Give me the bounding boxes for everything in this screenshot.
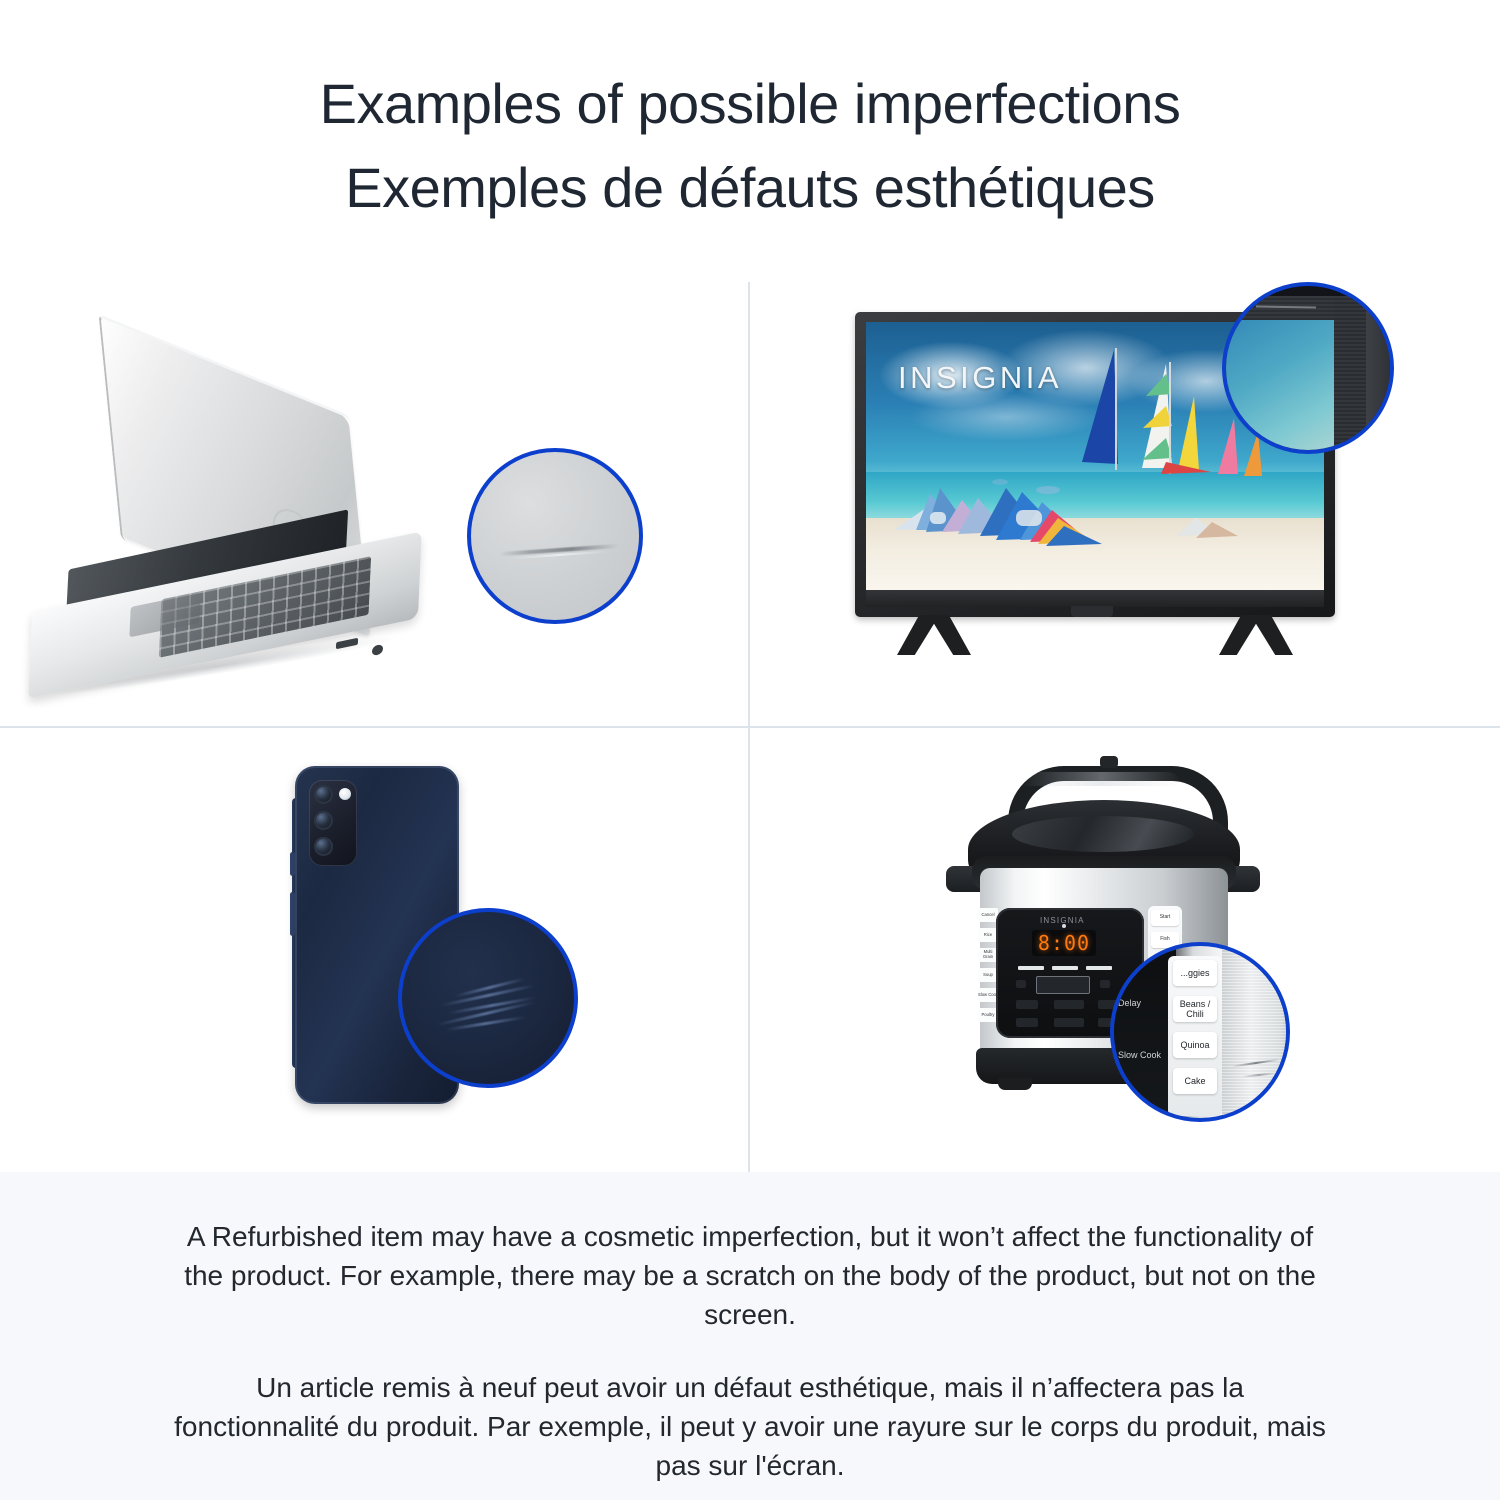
cooker-button-soup[interactable]: Soup [978, 968, 998, 982]
cooker-lcd-display: 8:00 [1032, 930, 1096, 956]
footer-text-container: A Refurbished item may have a cosmetic i… [170, 1217, 1330, 1485]
page-title-french: Exemples de défauts esthétiques [0, 146, 1500, 230]
cooker-magnified-button-cake[interactable]: Cake [1173, 1068, 1217, 1094]
tv-stand-leg-right [1219, 615, 1293, 655]
cooker-minus-button[interactable] [1016, 980, 1026, 988]
cooker-foot-left [998, 1078, 1032, 1090]
camera-lens-icon [314, 785, 333, 804]
cooker-saute-button[interactable] [1016, 1018, 1038, 1027]
cooker-steam-valve [1100, 756, 1118, 768]
tv-ir-receiver [1071, 606, 1113, 617]
camera-lens-icon [314, 837, 333, 856]
tv-screen-brand-logo: INSIGNIA [898, 360, 1062, 396]
tv-defect-magnifier [1222, 282, 1394, 454]
cooker-left-button-column[interactable]: Cancel Rice Multi Grain Soup Slow Cook P… [978, 906, 998, 1040]
laptop-graphic [10, 362, 510, 692]
cooker-display-value: 8:00 [1038, 931, 1090, 955]
tv-stand-leg-left [897, 615, 971, 655]
laptop-audio-port [372, 644, 383, 656]
footer-paragraph-french: Un article remis à neuf peut avoir un dé… [170, 1368, 1330, 1485]
cooker-magnified-label-slowcook: Slow Cook [1118, 1050, 1161, 1060]
tv-magnified-screen [1222, 314, 1342, 454]
smartphone-illustration [0, 728, 748, 1172]
cooker-handle-highlight [1022, 772, 1182, 786]
cooker-button-poultry[interactable]: Poultry [978, 1008, 998, 1022]
phone-defect-magnifier [398, 908, 578, 1088]
cooker-button-slowcook[interactable]: Slow Cook [978, 988, 998, 1002]
cooker-keepwarm-button[interactable] [1054, 1000, 1084, 1009]
footer-description-panel: A Refurbished item may have a cosmetic i… [0, 1172, 1500, 1500]
page-title: Examples of possible imperfections Exemp… [0, 62, 1500, 230]
cooker-level-bar [1052, 966, 1078, 970]
panel-smartphone [0, 728, 748, 1172]
cooker-status-indicator [1062, 924, 1066, 928]
footer-paragraph-english: A Refurbished item may have a cosmetic i… [170, 1217, 1330, 1334]
cooker-magnified-panel [1114, 946, 1176, 1122]
cooker-magnified-button-steamveggies[interactable]: ...ggies [1173, 960, 1217, 986]
cooker-magnified-button-strip: ...ggies Beans / Chili Quinoa Cake [1168, 956, 1222, 1116]
cooker-magnified-button-quinoa[interactable]: Quinoa [1173, 1032, 1217, 1058]
phone-camera-module [309, 780, 357, 866]
cooker-pressure-cook-button[interactable] [1036, 976, 1090, 994]
cooker-button-cancel[interactable]: Cancel [978, 908, 998, 922]
tv-magnified-corner-cap [1366, 298, 1394, 428]
tv-bottom-bezel [866, 590, 1324, 607]
laptop-defect-magnifier [467, 448, 643, 624]
cooker-magnified-label-delay: Delay [1118, 998, 1141, 1008]
camera-flash-icon [339, 788, 351, 800]
cooker-button-multigrain[interactable]: Multi Grain [978, 948, 998, 962]
camera-lens-icon [314, 811, 333, 830]
cooker-defect-magnifier: Delay Slow Cook ...ggies Beans / Chili Q… [1110, 942, 1290, 1122]
cooker-magnified-button-beanschili[interactable]: Beans / Chili [1173, 996, 1217, 1022]
tv-magnifier-content [1226, 286, 1390, 450]
cooker-manual-button[interactable] [1016, 1000, 1038, 1009]
cooker-button-rice[interactable]: Rice [978, 928, 998, 942]
cooker-lid-sheen [1012, 816, 1194, 852]
page-title-english: Examples of possible imperfections [0, 62, 1500, 146]
cooker-level-bar [1086, 966, 1112, 970]
cooker-magnified-steel-surface [1222, 946, 1290, 1122]
cooker-plus-button[interactable] [1100, 980, 1110, 988]
refurbished-imperfections-infographic: Examples of possible imperfections Exemp… [0, 0, 1500, 1500]
cooker-slowcook-button[interactable] [1054, 1018, 1084, 1027]
cooker-button-start[interactable]: Start [1151, 910, 1179, 926]
cooker-level-bar [1018, 966, 1044, 970]
